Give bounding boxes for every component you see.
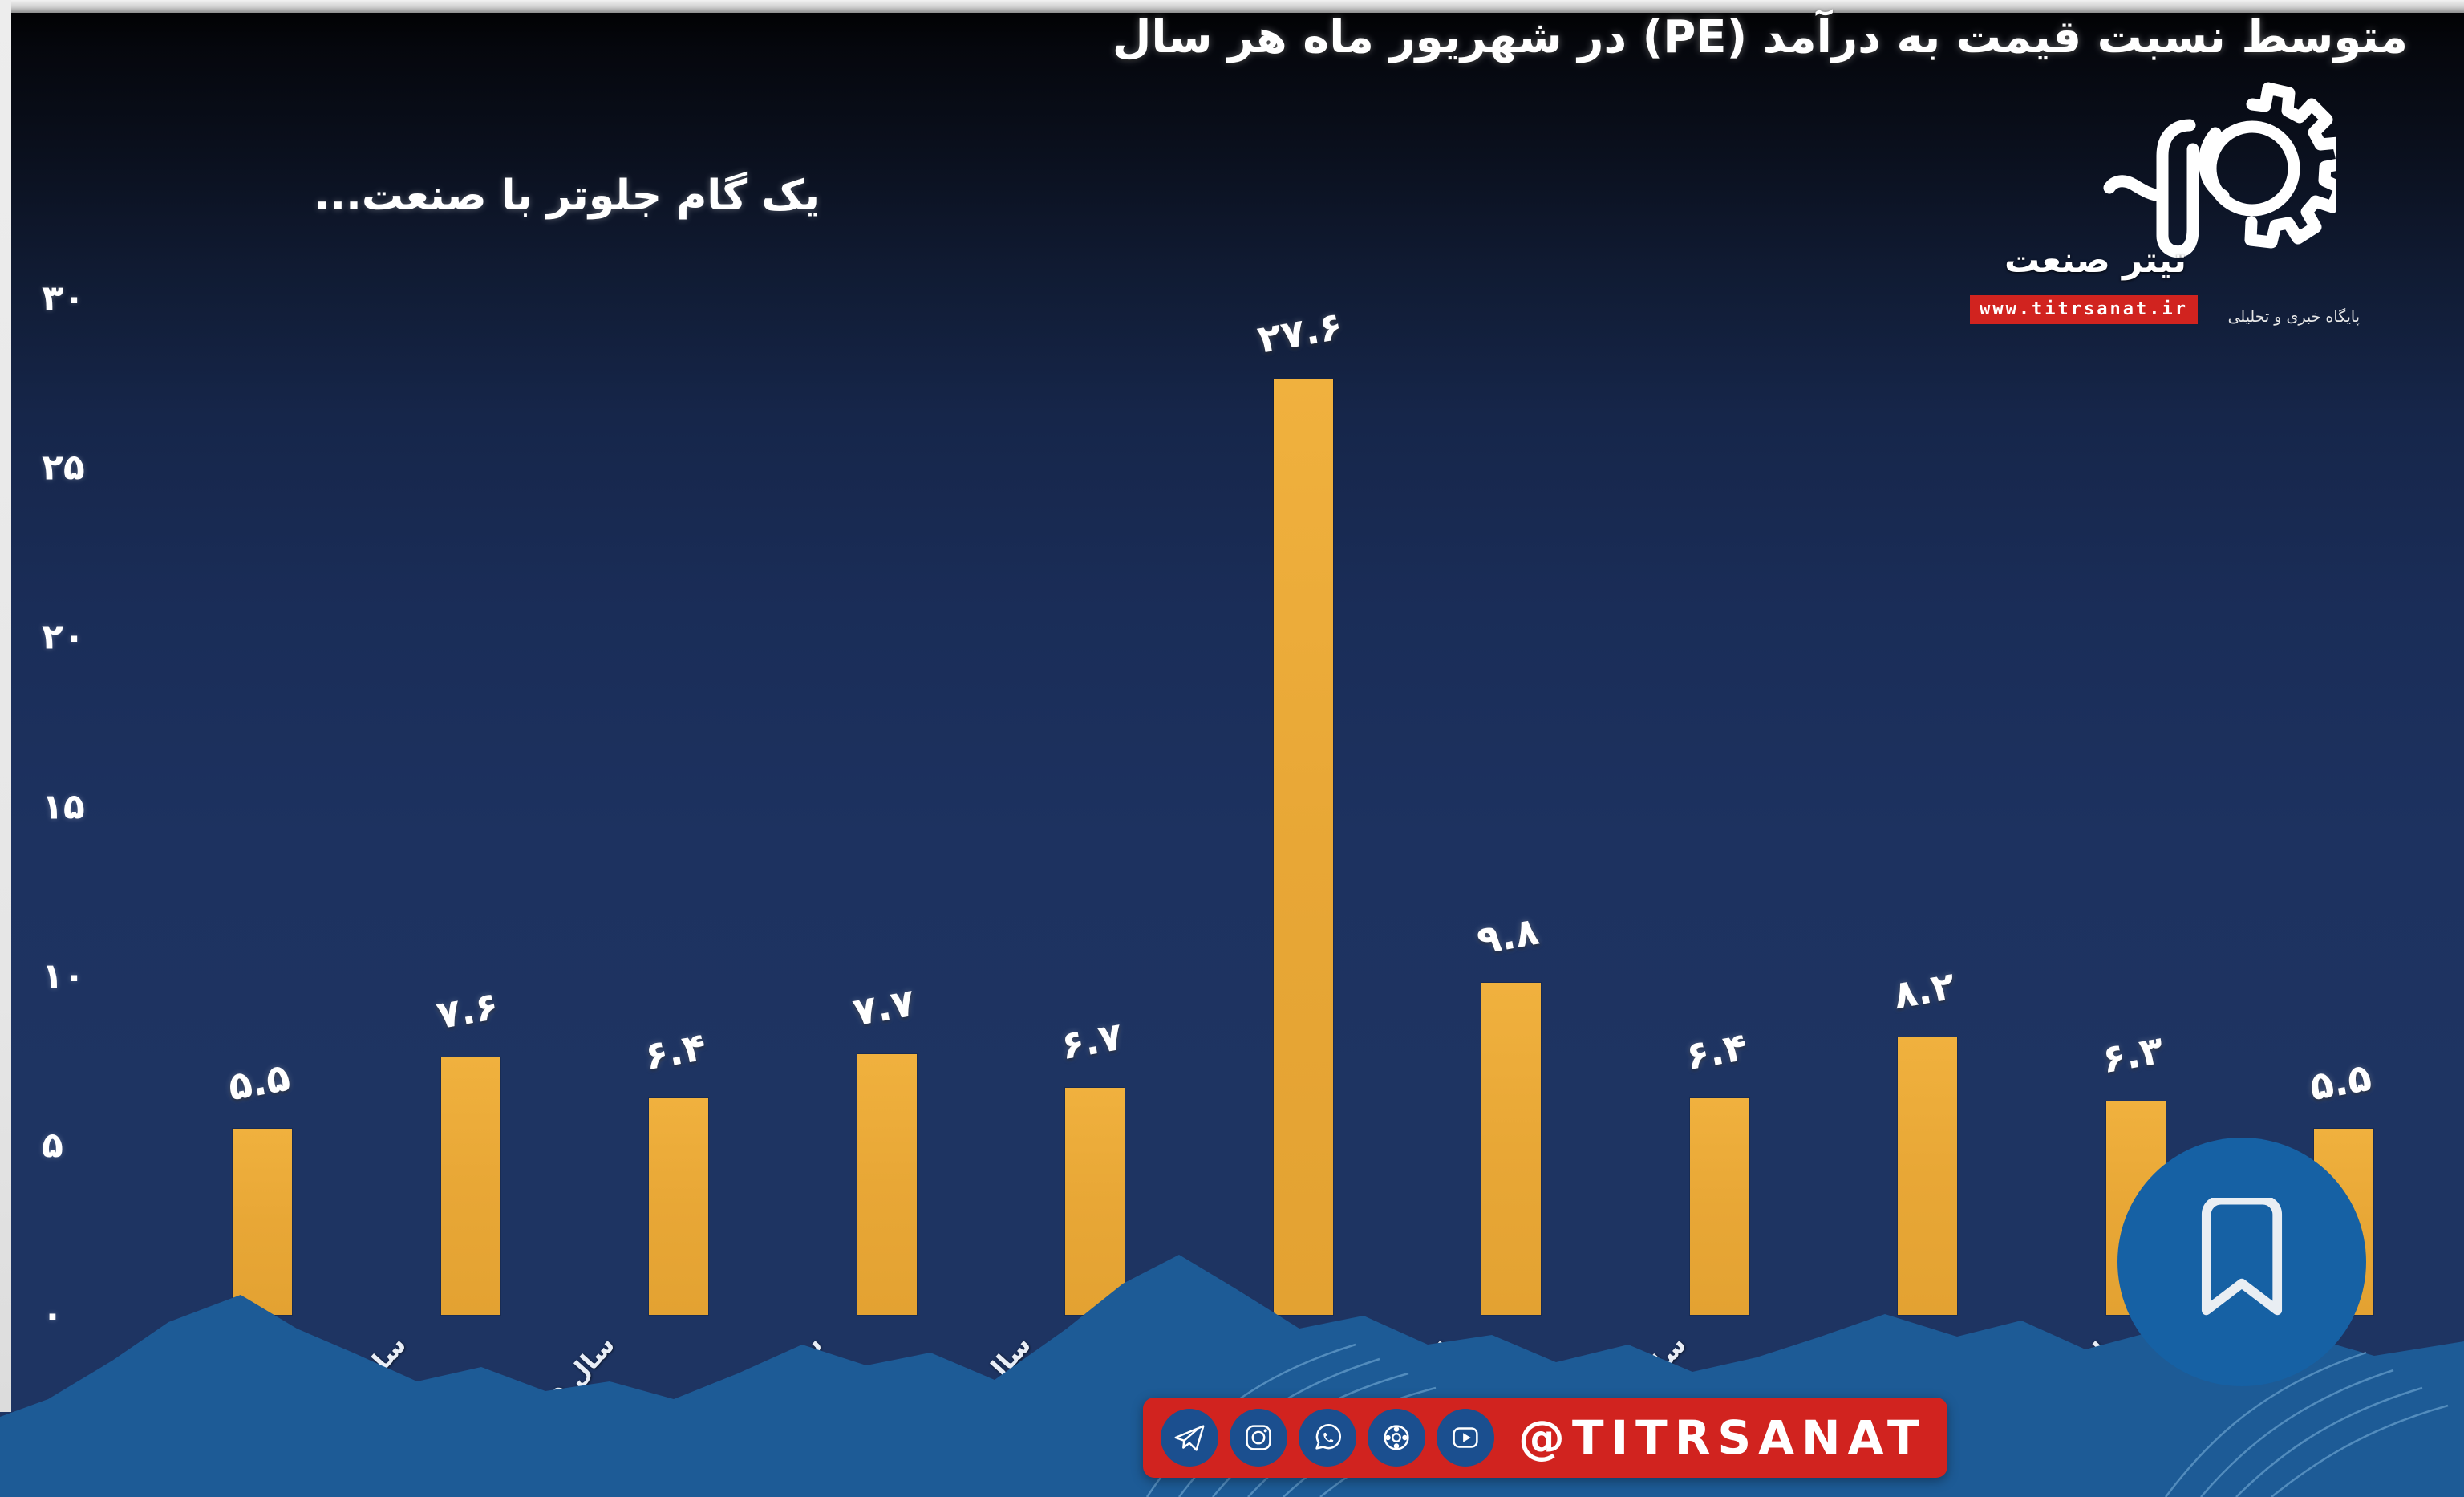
y-axis-tick: ۲۵ (42, 448, 85, 489)
y-axis-tick: ۱۰ (42, 955, 85, 996)
y-axis-tick: ۵ (42, 1125, 63, 1166)
bar-value-label: ۵.۵ (225, 1054, 293, 1109)
y-axis-tick: ۳۰ (42, 278, 85, 319)
bar-value-label: ۶.۴ (641, 1024, 709, 1078)
bar-value-label: ۹.۸ (1473, 909, 1542, 964)
instagram-icon[interactable] (1230, 1409, 1287, 1467)
youtube-icon[interactable] (1437, 1409, 1494, 1467)
bar-value-label: ۲۷.۶ (1254, 304, 1345, 363)
bar (1274, 379, 1333, 1315)
bar-value-label: ۶.۳ (2098, 1028, 2166, 1082)
bar-value-label: ۵.۵ (2306, 1054, 2374, 1109)
bar-value-label: ۷.۷ (849, 980, 918, 1035)
bookmark-button[interactable] (2117, 1138, 2366, 1386)
whatsapp-icon[interactable] (1299, 1409, 1356, 1467)
telegram-icon[interactable] (1161, 1409, 1218, 1467)
social-bar: @TITRSANAT (1143, 1398, 1947, 1478)
y-axis-tick: ۱۵ (42, 786, 85, 827)
y-axis-tick: ۲۰ (42, 617, 85, 658)
bar-value-label: ۶.۴ (1682, 1024, 1750, 1078)
social-handle: @TITRSANAT (1518, 1410, 1927, 1465)
aparat-icon[interactable] (1368, 1409, 1425, 1467)
bar-value-label: ۷.۶ (433, 984, 501, 1038)
bookmark-icon (2190, 1198, 2294, 1326)
bar-value-label: ۸.۲ (1890, 963, 1958, 1017)
bar-value-label: ۶.۷ (1057, 1014, 1125, 1069)
infographic-canvas: متوسط نسبت قیمت به درآمد (PE) در شهریور … (0, 0, 2464, 1497)
